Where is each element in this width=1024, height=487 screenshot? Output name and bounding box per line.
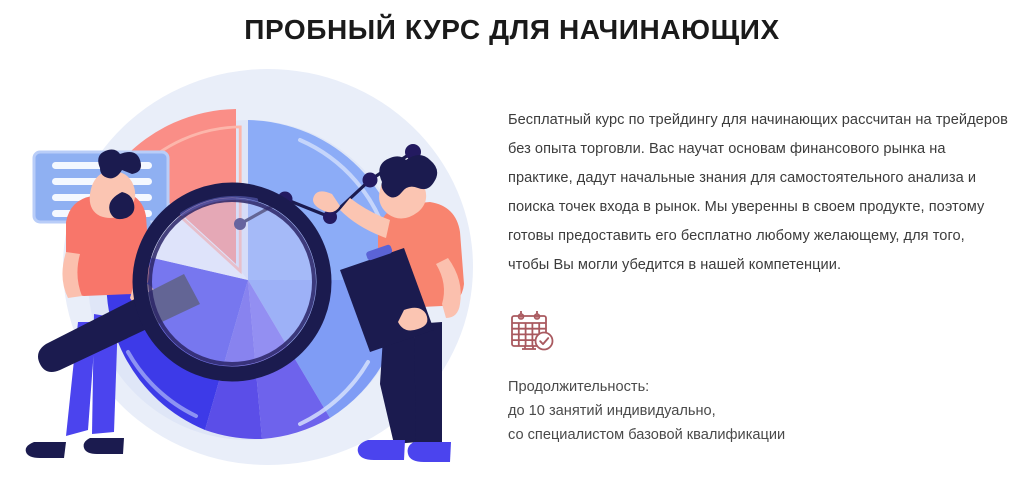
hero-illustration xyxy=(0,52,500,487)
course-description-block: Бесплатный курс по трейдингу для начинаю… xyxy=(508,106,1008,280)
duration-line-2: до 10 занятий индивидуально, xyxy=(508,399,978,423)
duration-line-1: Продолжительность: xyxy=(508,375,978,399)
duration-text-block: Продолжительность: до 10 занятий индивид… xyxy=(508,375,978,447)
course-description-text: Бесплатный курс по трейдингу для начинаю… xyxy=(508,106,1008,280)
calendar-check-icon xyxy=(508,308,556,354)
duration-icon-row xyxy=(508,308,568,354)
duration-line-3: со специалистом базовой квалификации xyxy=(508,423,978,447)
page-root: ПРОБНЫЙ КУРС ДЛЯ НАЧИНАЮЩИХ xyxy=(0,0,1024,487)
page-title: ПРОБНЫЙ КУРС ДЛЯ НАЧИНАЮЩИХ xyxy=(0,14,1024,46)
